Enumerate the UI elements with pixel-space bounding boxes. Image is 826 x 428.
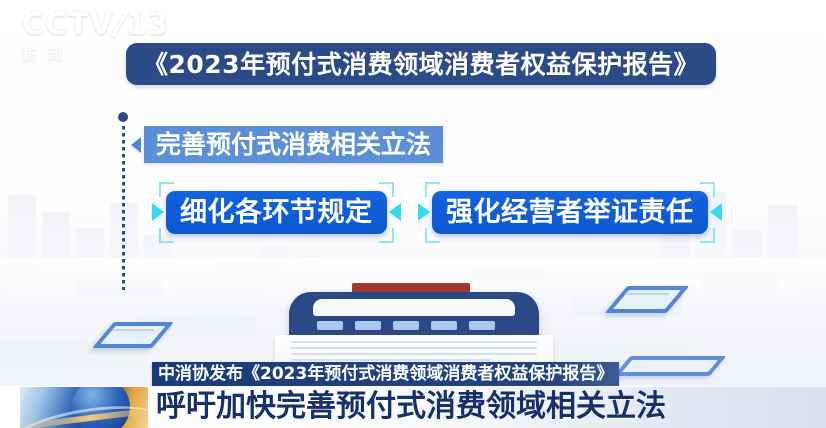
- corner-bracket-icon: [700, 228, 715, 243]
- chyron-headline: 呼吁加快完善预付式消费领域相关立法: [156, 390, 666, 425]
- corner-bracket-icon: [425, 228, 440, 243]
- branch-banner: 完善预付式消费相关立法: [144, 126, 443, 163]
- report-title-pill: 《2023年预付式消费领域消费者权益保护报告》: [126, 43, 716, 85]
- corner-bracket-icon: [159, 182, 174, 197]
- report-title: 《2023年预付式消费领域消费者权益保护报告》: [143, 52, 699, 77]
- measure-item-1: 细化各环节规定: [152, 183, 401, 241]
- globe-icon: [20, 387, 148, 428]
- lower-third: 中消协发布《2023年预付式消费领域消费者权益保护报告》 呼吁加快完善预付式消费…: [0, 362, 826, 428]
- logo-text: CCTV: [22, 7, 114, 42]
- circle-node-icon: [118, 112, 128, 122]
- tablet-isometric-icon: [616, 286, 678, 313]
- corner-bracket-icon: [379, 228, 394, 243]
- document-illustration-icon: [289, 283, 539, 369]
- branch-label: 完善预付式消费相关立法: [156, 132, 431, 157]
- corner-bracket-icon: [700, 182, 715, 197]
- corner-bracket-icon: [159, 228, 174, 243]
- chyron-kicker-bar: 中消协发布《2023年预付式消费领域消费者权益保护报告》: [152, 362, 619, 386]
- triangle-left-icon: [710, 203, 722, 221]
- corner-bracket-icon: [379, 182, 394, 197]
- corner-bracket-icon: [425, 182, 440, 197]
- chyron-kicker: 中消协发布《2023年预付式消费领域消费者权益保护报告》: [158, 366, 613, 383]
- triangle-left-icon: [389, 203, 401, 221]
- measure-item-2: 强化经营者举证责任: [418, 183, 722, 241]
- logo-channel-number: 13: [126, 7, 170, 42]
- triangle-right-icon: [152, 203, 164, 221]
- measure-chip-1: 细化各环节规定: [166, 191, 387, 234]
- measures-row: 细化各环节规定 强化经营者举证责任: [0, 183, 826, 241]
- measure-chip-2-label: 强化经营者举证责任: [446, 199, 694, 226]
- measure-chip-1-label: 细化各环节规定: [180, 199, 373, 226]
- triangle-left-icon: [131, 137, 141, 153]
- measure-chip-2: 强化经营者举证责任: [432, 191, 708, 234]
- broadcast-screen: CCTV/13 新闻 《2023年预付式消费领域消费者权益保护报告》 完善预付式…: [0, 0, 826, 428]
- triangle-right-icon: [418, 203, 430, 221]
- document-screen: [313, 299, 515, 316]
- branch-row: 完善预付式消费相关立法: [131, 126, 443, 163]
- tablet-isometric-icon: [103, 322, 163, 348]
